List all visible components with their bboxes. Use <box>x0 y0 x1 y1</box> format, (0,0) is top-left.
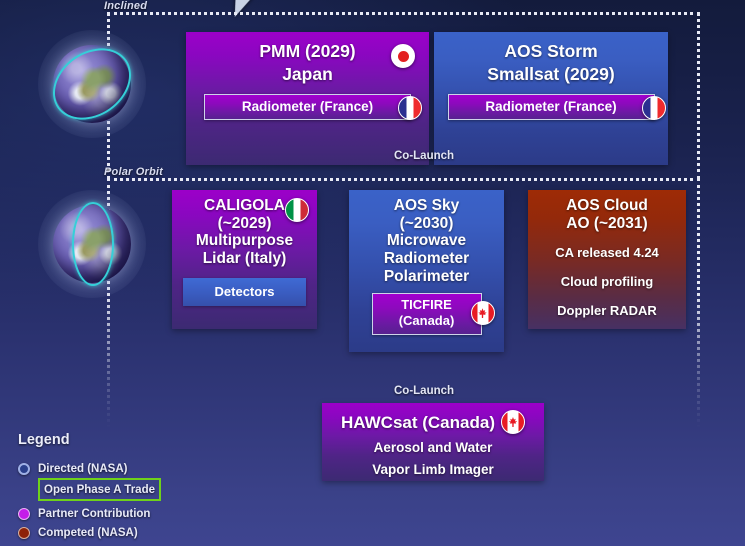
mission-box-caligola[interactable]: CALIGOLA (~2029) Multipurpose Lidar (Ita… <box>172 190 317 329</box>
legend: Legend Directed (NASA) Open Phase A Trad… <box>18 432 161 543</box>
mission-detail-aos-cloud-line2: Cloud profiling <box>536 274 678 290</box>
japan-flag-icon <box>391 44 415 68</box>
mission-title-aos-cloud-line2: AO (~2031) <box>536 215 678 233</box>
earth-globe-polar-icon <box>44 196 140 292</box>
directed-marker-icon <box>18 463 30 475</box>
instrument-label-line1: TICFIRE <box>373 297 481 313</box>
mission-box-aos-storm-smallsat[interactable]: AOS Storm Smallsat (2029) Radiometer (Fr… <box>434 32 668 165</box>
instrument-aos-storm-radiometer[interactable]: Radiometer (France) <box>448 94 655 120</box>
mission-detail-hawcsat-line2: Vapor Limb Imager <box>330 462 536 478</box>
competed-marker-icon <box>18 527 30 539</box>
mission-title-aos-sky-line5: Polarimeter <box>357 268 496 286</box>
mission-detail-aos-cloud-line3: Doppler RADAR <box>536 303 678 319</box>
mission-box-aos-cloud-ao[interactable]: AOS Cloud AO (~2031) CA released 4.24 Cl… <box>528 190 686 329</box>
instrument-label: Radiometer (France) <box>485 99 616 114</box>
france-flag-icon <box>398 96 422 120</box>
partner-marker-icon <box>18 508 30 520</box>
mission-title-aos-sky-line4: Radiometer <box>357 250 496 268</box>
mission-title-pmm-line1: PMM (2029) <box>194 39 421 62</box>
mission-title-aos-sky-line2: (~2030) <box>357 215 496 233</box>
mission-title-aos-sky-line1: AOS Sky <box>357 197 496 215</box>
polar-orbit-ring-icon <box>72 202 114 286</box>
mission-title-aos-storm-line2: Smallsat (2029) <box>442 62 660 85</box>
mission-detail-hawcsat-line1: Aerosol and Water <box>330 440 536 456</box>
legend-label-competed: Competed (NASA) <box>38 527 138 539</box>
inclined-region-label: Inclined <box>104 0 147 12</box>
legend-item-directed: Directed (NASA) <box>18 460 161 477</box>
mission-title-aos-cloud-line1: AOS Cloud <box>536 197 678 215</box>
legend-item-competed: Competed (NASA) <box>18 524 161 541</box>
instrument-label: Detectors <box>215 284 275 299</box>
instrument-pmm-radiometer[interactable]: Radiometer (France) <box>204 94 411 120</box>
mission-title-hawcsat-text: HAWCsat (Canada) <box>341 413 495 432</box>
mission-title-hawcsat: HAWCsat (Canada) <box>330 410 536 434</box>
instrument-label: Radiometer (France) <box>242 99 373 114</box>
mission-title-pmm-line2: Japan <box>194 62 421 85</box>
mission-detail-aos-cloud-line1: CA released 4.24 <box>536 245 678 261</box>
colaunch-label-bottom: Co-Launch <box>394 385 454 397</box>
legend-label-open-phase-a-trade: Open Phase A Trade <box>44 484 155 496</box>
mission-box-hawcsat[interactable]: HAWCsat (Canada) Aerosol and Water Vapor… <box>322 403 544 481</box>
diagram-canvas: Inclined Polar Orbit PMM (2029) Japan Ra… <box>0 0 745 546</box>
legend-label-partner: Partner Contribution <box>38 508 150 520</box>
legend-item-partner: Partner Contribution <box>18 505 161 522</box>
instrument-label-line2: (Canada) <box>373 313 481 329</box>
earth-globe-inclined-icon <box>44 36 140 132</box>
mission-title-aos-storm-line1: AOS Storm <box>442 39 660 62</box>
france-flag-icon <box>642 96 666 120</box>
mission-title-caligola-line3: Multipurpose <box>180 232 309 250</box>
legend-label-directed: Directed (NASA) <box>38 463 127 475</box>
legend-highlight-open-phase-a-trade[interactable]: Open Phase A Trade <box>38 478 161 501</box>
canada-flag-icon <box>471 301 495 325</box>
mission-title-aos-sky-line3: Microwave <box>357 232 496 250</box>
colaunch-label-top: Co-Launch <box>394 150 454 162</box>
mission-box-pmm[interactable]: PMM (2029) Japan Radiometer (France) <box>186 32 429 165</box>
mission-box-aos-sky[interactable]: AOS Sky (~2030) Microwave Radiometer Pol… <box>349 190 504 352</box>
legend-title: Legend <box>18 432 161 448</box>
polar-region-label: Polar Orbit <box>104 166 163 178</box>
italy-flag-icon <box>285 198 309 222</box>
instrument-caligola-detectors[interactable]: Detectors <box>183 278 306 306</box>
canada-flag-icon <box>501 410 525 434</box>
mission-title-caligola-line4: Lidar (Italy) <box>180 250 309 268</box>
instrument-ticfire[interactable]: TICFIRE (Canada) <box>372 293 482 335</box>
